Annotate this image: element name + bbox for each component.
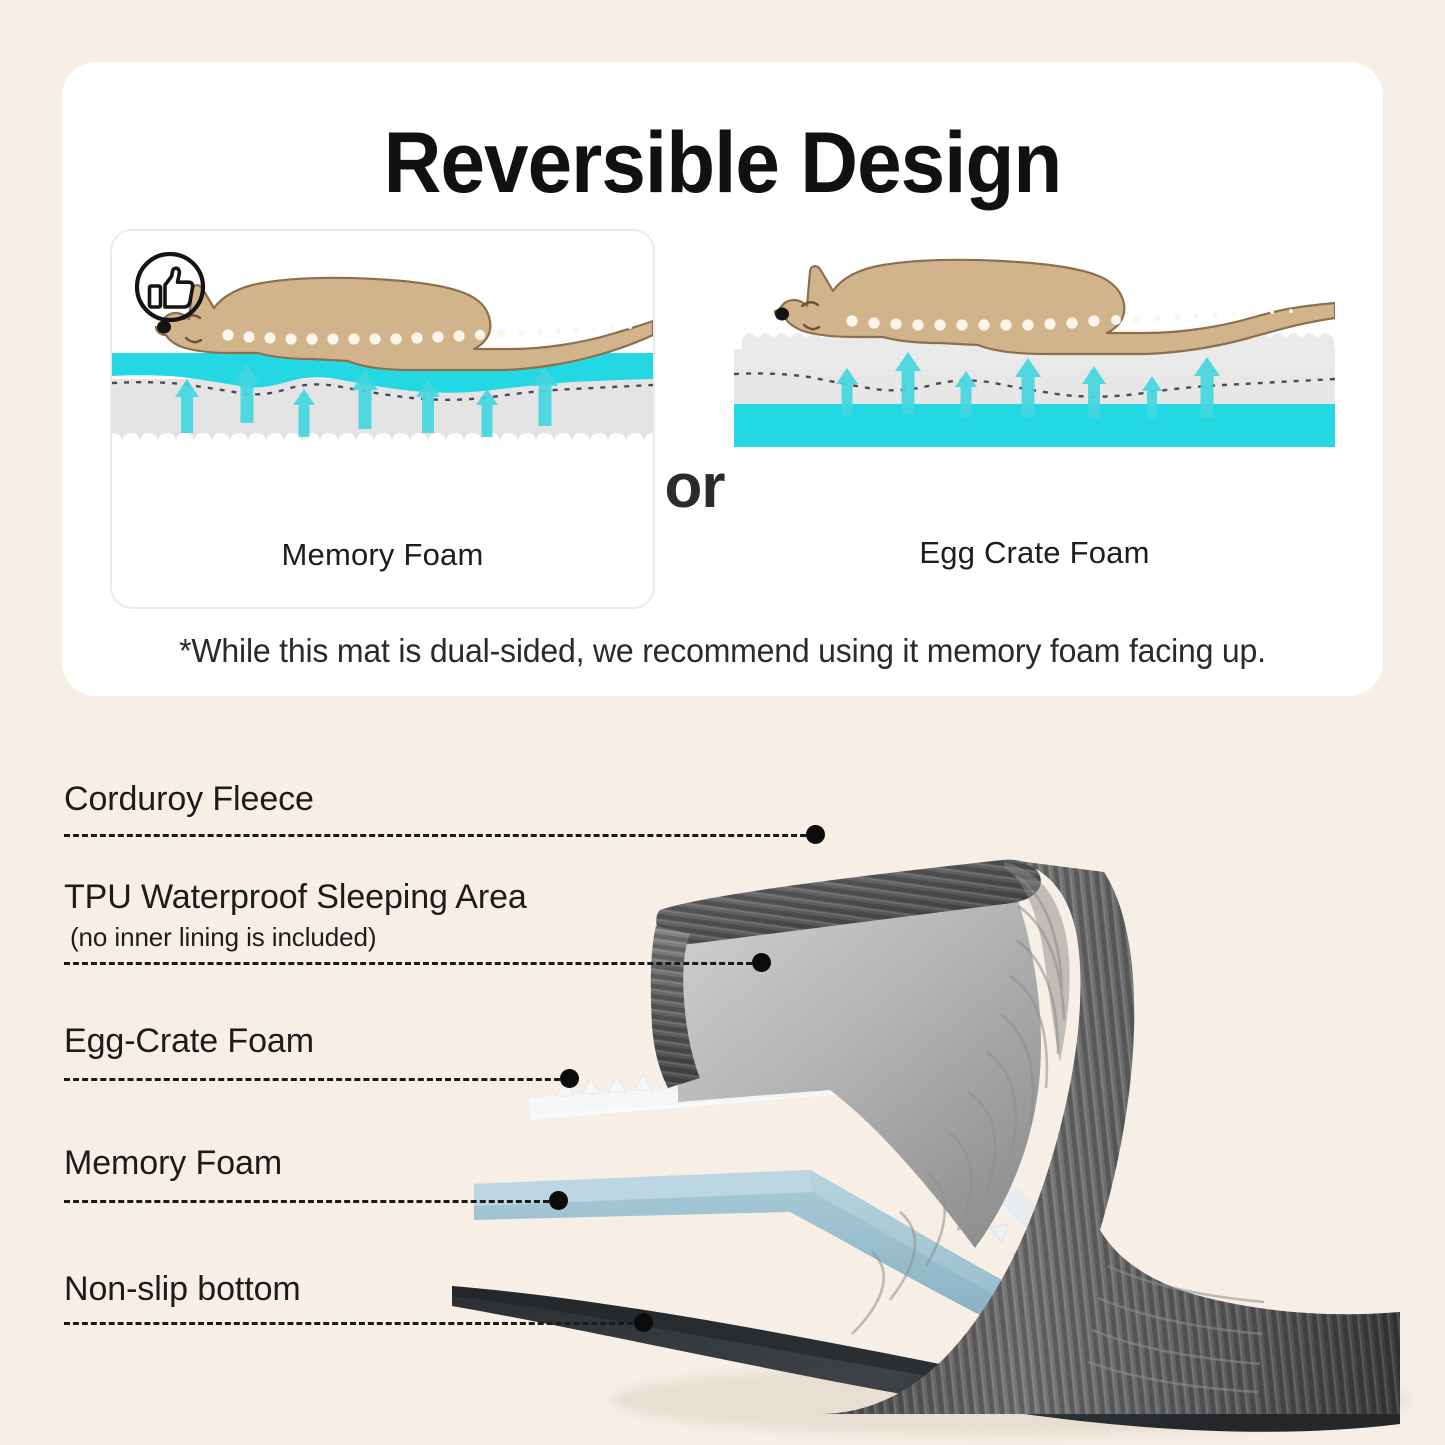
leader-line [64, 1200, 558, 1203]
thumbs-up-icon [132, 249, 208, 325]
layer-breakdown-section: Corduroy Fleece TPU Waterproof Sleeping … [0, 700, 1445, 1445]
leader-dot [560, 1069, 579, 1088]
leader-line [64, 1078, 569, 1081]
panel-caption-egg-crate: Egg Crate Foam [734, 535, 1335, 571]
page-title: Reversible Design [108, 114, 1337, 213]
leader-line [64, 834, 815, 837]
leader-dot [549, 1191, 568, 1210]
reversible-footnote: *While this mat is dual-sided, we recomm… [82, 632, 1363, 670]
callout-label: Corduroy Fleece [64, 780, 314, 819]
callout-label: Memory Foam [64, 1144, 282, 1183]
panel-egg-crate-foam: Egg Crate Foam [734, 229, 1335, 609]
or-separator: or [655, 451, 734, 522]
leader-dot [634, 1313, 653, 1332]
callout-label: Non-slip bottom [64, 1270, 301, 1309]
leader-line [64, 1322, 642, 1325]
leader-dot [806, 825, 825, 844]
reversible-design-card: Reversible Design [62, 62, 1383, 696]
panel-memory-foam: Memory Foam [110, 229, 655, 609]
dog-nose [775, 308, 789, 321]
panel-caption-memory-foam: Memory Foam [112, 537, 653, 573]
callout-sublabel: (no inner lining is included) [70, 922, 376, 953]
callout-label: TPU Waterproof Sleeping Area [64, 878, 527, 917]
callout-label: Egg-Crate Foam [64, 1022, 314, 1061]
leader-dot [752, 953, 771, 972]
leader-line [64, 962, 761, 965]
